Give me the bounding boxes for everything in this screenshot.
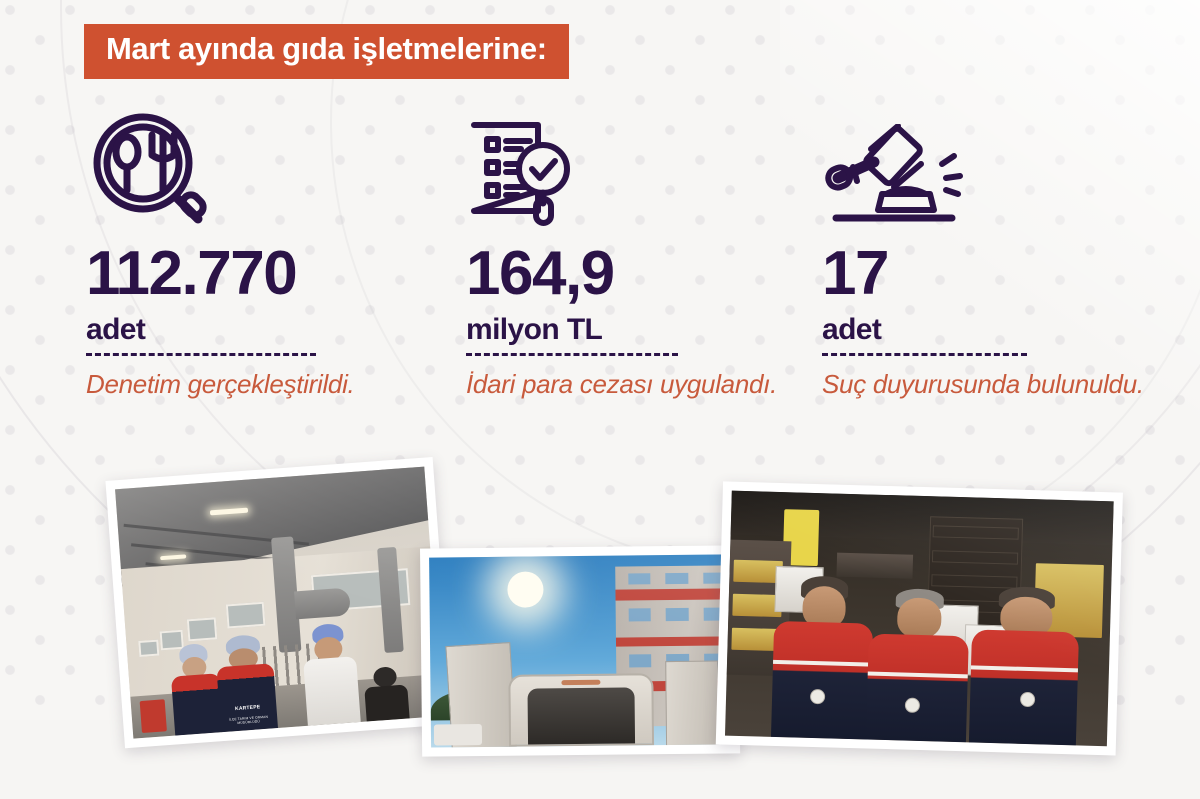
gavel-icon	[822, 104, 1152, 229]
agency-emblem	[1020, 692, 1035, 707]
van-cargo-opening	[508, 673, 654, 747]
header-banner: Mart ayında gıda işletmelerine:	[84, 24, 569, 79]
photo-vehicle-inspection	[420, 545, 740, 756]
vest-stripe	[971, 666, 1078, 673]
facade-band	[616, 636, 731, 647]
stat-block-criminal-complaints: 17 adet Suç duyurusunda bulunuldu.	[822, 104, 1152, 400]
inspector-vest	[866, 633, 968, 742]
photo-image	[725, 491, 1114, 747]
stat-caption: Suç duyurusunda bulunuldu.	[822, 368, 1152, 401]
photo-image	[429, 554, 731, 747]
wall-window	[139, 639, 160, 657]
facade-band	[615, 588, 731, 600]
vest-stripe	[868, 671, 967, 678]
person-body	[365, 684, 410, 721]
stat-unit: adet	[86, 313, 416, 347]
building-window	[666, 608, 689, 621]
crate-stack	[933, 526, 1019, 540]
air-duct	[294, 587, 352, 619]
inspector-figure	[771, 575, 875, 739]
inspector-vest	[969, 630, 1079, 746]
crate-stack	[932, 550, 1018, 564]
building-window	[628, 573, 651, 584]
agency-emblem	[809, 689, 824, 704]
stat-block-inspections: 112.770 adet Denetim gerçekleştirildi.	[86, 104, 416, 400]
vest-stripe	[773, 660, 872, 667]
cargo-light	[561, 679, 601, 684]
sun	[507, 572, 543, 608]
inspector-figure	[866, 588, 970, 743]
inspector-figure	[969, 586, 1080, 746]
stat-unit: adet	[822, 313, 1152, 347]
stat-divider	[86, 353, 316, 356]
stat-divider	[822, 353, 1027, 356]
van-rear-door-right	[665, 661, 719, 747]
stat-block-fines: 164,9 milyon TL İdari para cezası uygula…	[466, 104, 796, 400]
photo-strip: KARTEPE İLÇE TARIM VE ORMAN MÜDÜRLÜĞÜ	[0, 455, 1200, 720]
bin	[140, 699, 167, 733]
inspector-vest	[771, 620, 874, 739]
photo-food-plant-inspection: KARTEPE İLÇE TARIM VE ORMAN MÜDÜRLÜĞÜ	[105, 457, 452, 748]
stat-value: 17	[822, 243, 1152, 305]
page-title: Mart ayında gıda işletmelerine:	[106, 33, 547, 66]
building-window	[628, 608, 651, 621]
inspector-figure: KARTEPE İLÇE TARIM VE ORMAN MÜDÜRLÜĞÜ	[213, 633, 279, 732]
wall-window	[226, 601, 266, 628]
photo-market-inspection	[716, 481, 1123, 755]
statistics-row: 112.770 adet Denetim gerçekleştirildi.	[0, 104, 1200, 454]
agency-emblem	[905, 698, 920, 713]
shelf-unit	[836, 552, 913, 579]
stat-unit: milyon TL	[466, 313, 796, 347]
building-window	[666, 573, 689, 584]
photo-image: KARTEPE İLÇE TARIM VE ORMAN MÜDÜRLÜĞÜ	[115, 467, 442, 739]
cargo-interior	[527, 687, 635, 744]
stat-value: 112.770	[86, 243, 416, 305]
lab-coat	[303, 656, 361, 726]
stat-caption: Denetim gerçekleştirildi.	[86, 368, 416, 401]
checklist-magnifier-icon	[466, 104, 796, 229]
parked-car	[434, 724, 482, 745]
stat-caption: İdari para cezası uygulandı.	[466, 368, 796, 401]
stat-value: 164,9	[466, 243, 796, 305]
building-window	[629, 654, 652, 667]
person-head	[897, 598, 942, 639]
worker-figure	[361, 663, 411, 721]
magnifier-cutlery-icon	[86, 104, 416, 229]
worker-figure	[299, 622, 362, 726]
stat-divider	[466, 353, 678, 356]
